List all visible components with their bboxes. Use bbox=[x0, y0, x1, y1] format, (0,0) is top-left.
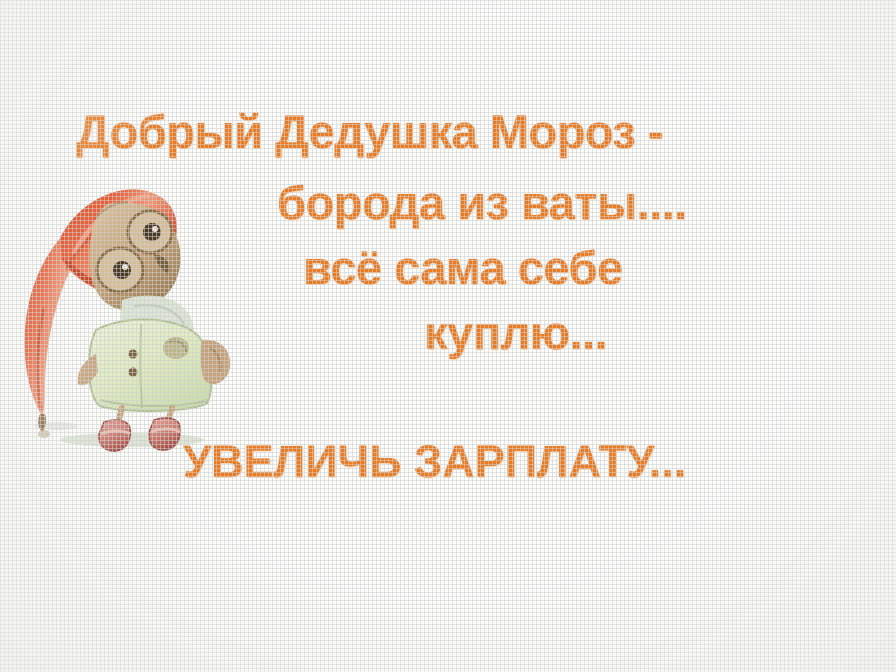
caption-line-5: УВЕЛИЧЬ ЗАРПЛАТУ... bbox=[183, 436, 686, 488]
right-wing bbox=[201, 340, 231, 384]
coat-button-top bbox=[128, 349, 137, 358]
eye-lower bbox=[97, 248, 143, 292]
eye-upper bbox=[128, 211, 172, 253]
caption-line-1: Добрый Дедушка Мороз - bbox=[76, 104, 663, 159]
image-canvas: Добрый Дедушка Мороз - борода из ваты...… bbox=[0, 0, 896, 672]
coat bbox=[89, 320, 212, 411]
caption-line-2: борода из ваты.... bbox=[277, 175, 687, 230]
left-boot bbox=[99, 420, 130, 451]
caption-line-3: всё сама себе bbox=[303, 240, 623, 295]
coat-button-bottom bbox=[128, 367, 137, 376]
right-boot bbox=[149, 418, 181, 450]
owl-character-illustration bbox=[4, 158, 254, 458]
caption-line-4: куплю... bbox=[424, 305, 607, 360]
